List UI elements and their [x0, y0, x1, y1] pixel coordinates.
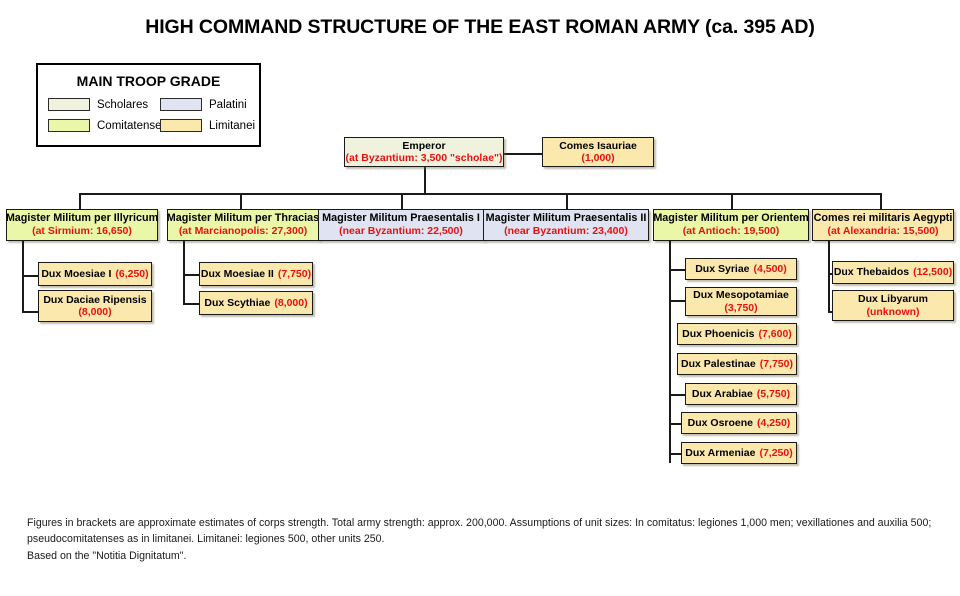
node-dux-moesiae-2-name: Dux Moesiae II — [201, 268, 274, 280]
legend-box: MAIN TROOP GRADE Scholares Palatini Comi… — [36, 63, 261, 147]
node-dux-arabiae-name: Dux Arabiae — [692, 388, 753, 400]
node-praesentalis-1-value: (near Byzantium: 22,500) — [339, 225, 463, 237]
node-thracias-name: Magister Militum per Thracias — [167, 212, 319, 225]
node-dux-osroene-name: Dux Osroene — [688, 417, 753, 429]
node-dux-phoenicis[interactable]: Dux Phoenicis (7,600) — [677, 323, 797, 345]
node-dux-osroene[interactable]: Dux Osroene (4,250) — [681, 412, 797, 434]
legend-item-scholares: Scholares — [48, 98, 160, 111]
node-comes-isauriae-value: (1,000) — [581, 152, 614, 164]
node-dux-phoenicis-value: (7,600) — [759, 328, 792, 340]
legend-items: Scholares Palatini Comitatenses Limitane… — [38, 98, 259, 132]
node-dux-arabiae[interactable]: Dux Arabiae (5,750) — [685, 383, 797, 405]
connector-drop-aegypti — [880, 193, 882, 209]
node-dux-armeniae[interactable]: Dux Armeniae (7,250) — [681, 442, 797, 464]
node-magister-militum-praesentalis-2[interactable]: Magister Militum Praesentalis II (near B… — [483, 209, 649, 241]
node-dux-osroene-value: (4,250) — [757, 417, 790, 429]
node-dux-daciae-ripensis[interactable]: Dux Daciae Ripensis (8,000) — [38, 290, 152, 322]
node-praesentalis-2-name: Magister Militum Praesentalis II — [486, 212, 647, 225]
node-dux-mesopotamiae-value: (3,750) — [724, 302, 757, 314]
connector-emperor-down — [424, 166, 426, 194]
footnote-line-1: Figures in brackets are approximate esti… — [27, 515, 933, 548]
connector-drop-praesentalis-2 — [566, 193, 568, 209]
connector-stub-scythiae — [183, 303, 199, 305]
connector-drop-illyricum — [79, 193, 81, 209]
connector-drop-praesentalis-1 — [401, 193, 403, 209]
legend-item-comitatenses: Comitatenses — [48, 119, 160, 132]
connector-spine-illyricum — [22, 241, 24, 313]
node-dux-moesiae-1-name: Dux Moesiae I — [41, 268, 111, 280]
node-dux-palestinae-value: (7,750) — [760, 358, 793, 370]
node-dux-scythiae-value: (8,000) — [274, 297, 307, 309]
connector-drop-thracias — [240, 193, 242, 209]
node-magister-militum-orientem[interactable]: Magister Militum per Orientem (at Antioc… — [653, 209, 809, 241]
org-chart: HIGH COMMAND STRUCTURE OF THE EAST ROMAN… — [0, 0, 960, 596]
page-title: HIGH COMMAND STRUCTURE OF THE EAST ROMAN… — [0, 16, 960, 39]
footnote: Figures in brackets are approximate esti… — [27, 515, 933, 564]
footnote-line-2: Based on the "Notitia Dignitatum". — [27, 548, 933, 564]
legend-swatch-limitanei — [160, 119, 202, 132]
connector-stub-arabiae — [669, 394, 685, 396]
node-praesentalis-2-value: (near Byzantium: 23,400) — [504, 225, 628, 237]
node-dux-moesiae-2[interactable]: Dux Moesiae II (7,750) — [199, 262, 313, 286]
node-comes-isauriae-name: Comes Isauriae — [559, 140, 637, 152]
node-emperor-name: Emperor — [402, 140, 445, 152]
node-dux-phoenicis-name: Dux Phoenicis — [682, 328, 754, 340]
node-dux-scythiae[interactable]: Dux Scythiae (8,000) — [199, 291, 313, 315]
connector-stub-mesopotamiae — [669, 300, 685, 302]
node-dux-arabiae-value: (5,750) — [757, 388, 790, 400]
node-dux-libyarum-value: (unknown) — [866, 306, 919, 318]
node-dux-daciae-ripensis-value: (8,000) — [78, 306, 111, 318]
node-illyricum-name: Magister Militum per Illyricum — [6, 212, 158, 225]
node-thracias-value: (at Marcianopolis: 27,300) — [179, 225, 307, 237]
node-orientem-value: (at Antioch: 19,500) — [683, 225, 779, 237]
node-dux-syriae-name: Dux Syriae — [695, 263, 749, 275]
legend-title: MAIN TROOP GRADE — [38, 73, 259, 89]
node-magister-militum-illyricum[interactable]: Magister Militum per Illyricum (at Sirmi… — [6, 209, 158, 241]
node-dux-moesiae-2-value: (7,750) — [278, 268, 311, 280]
node-dux-palestinae-name: Dux Palestinae — [681, 358, 756, 370]
node-emperor[interactable]: Emperor (at Byzantium: 3,500 "scholae") — [344, 137, 504, 167]
node-dux-moesiae-1-value: (6,250) — [115, 268, 148, 280]
node-dux-moesiae-1[interactable]: Dux Moesiae I (6,250) — [38, 262, 152, 286]
legend-swatch-scholares — [48, 98, 90, 111]
node-emperor-value: (at Byzantium: 3,500 "scholae") — [346, 152, 503, 164]
connector-drop-orientem — [731, 193, 733, 209]
node-comes-isauriae[interactable]: Comes Isauriae (1,000) — [542, 137, 654, 167]
node-illyricum-value: (at Sirmium: 16,650) — [32, 225, 132, 237]
node-dux-thebaidos[interactable]: Dux Thebaidos (12,500) — [832, 261, 954, 284]
legend-label-limitanei: Limitanei — [209, 120, 255, 132]
node-comes-rei-militaris-aegypti[interactable]: Comes rei militaris Aegypti (at Alexandr… — [812, 209, 954, 241]
node-aegypti-value: (at Alexandria: 15,500) — [827, 225, 938, 237]
node-dux-palestinae[interactable]: Dux Palestinae (7,750) — [677, 353, 797, 375]
node-dux-armeniae-name: Dux Armeniae — [685, 447, 755, 459]
node-dux-syriae[interactable]: Dux Syriae (4,500) — [685, 258, 797, 280]
legend-item-limitanei: Limitanei — [160, 119, 273, 132]
legend-label-comitatenses: Comitatenses — [97, 120, 167, 132]
node-magister-militum-thracias[interactable]: Magister Militum per Thracias (at Marcia… — [167, 209, 319, 241]
node-dux-daciae-ripensis-name: Dux Daciae Ripensis — [43, 294, 146, 306]
legend-label-palatini: Palatini — [209, 99, 247, 111]
node-dux-thebaidos-value: (12,500) — [913, 266, 952, 278]
connector-command-bus — [79, 193, 881, 195]
node-dux-armeniae-value: (7,250) — [759, 447, 792, 459]
node-dux-libyarum[interactable]: Dux Libyarum (unknown) — [832, 290, 954, 321]
connector-stub-moesiae-2 — [183, 274, 199, 276]
connector-stub-moesiae-1 — [22, 275, 38, 277]
node-dux-scythiae-name: Dux Scythiae — [204, 297, 270, 309]
node-dux-mesopotamiae[interactable]: Dux Mesopotamiae (3,750) — [685, 287, 797, 316]
connector-spine-thracias — [183, 241, 185, 304]
node-dux-syriae-value: (4,500) — [754, 263, 787, 275]
connector-stub-daciae-ripensis — [22, 311, 38, 313]
connector-spine-aegypti — [828, 241, 830, 313]
node-dux-libyarum-name: Dux Libyarum — [858, 293, 928, 305]
legend-label-scholares: Scholares — [97, 99, 148, 111]
node-aegypti-name: Comes rei militaris Aegypti — [814, 212, 953, 225]
node-orientem-name: Magister Militum per Orientem — [653, 212, 808, 225]
node-dux-thebaidos-name: Dux Thebaidos — [834, 266, 909, 278]
connector-emperor-isauriae — [504, 153, 542, 155]
legend-swatch-comitatenses — [48, 119, 90, 132]
connector-stub-syriae — [669, 269, 685, 271]
legend-swatch-palatini — [160, 98, 202, 111]
connector-spine-orientem — [669, 241, 671, 463]
node-praesentalis-1-name: Magister Militum Praesentalis I — [322, 212, 480, 225]
node-dux-mesopotamiae-name: Dux Mesopotamiae — [693, 289, 789, 301]
legend-item-palatini: Palatini — [160, 98, 273, 111]
node-magister-militum-praesentalis-1[interactable]: Magister Militum Praesentalis I (near By… — [318, 209, 484, 241]
